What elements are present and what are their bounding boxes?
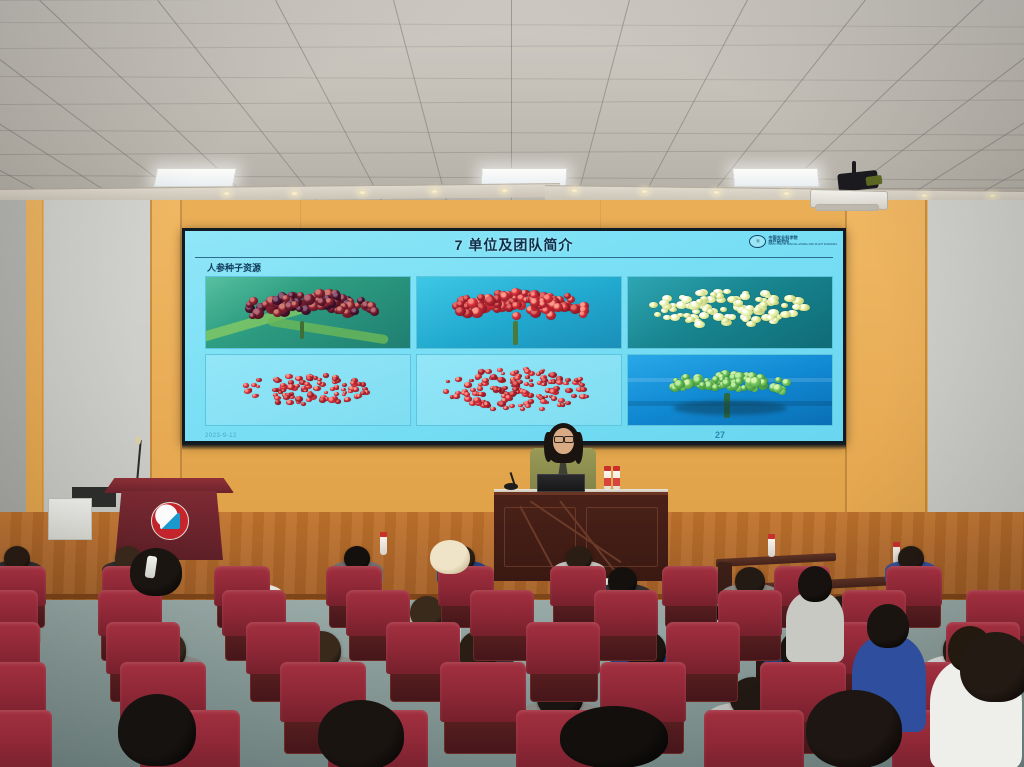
- berry: [707, 309, 715, 314]
- audience-person-head-foreground: [560, 706, 668, 767]
- berry: [784, 295, 796, 303]
- berry: [735, 378, 743, 385]
- berry: [654, 312, 661, 317]
- berry: [323, 373, 329, 378]
- berry: [710, 292, 717, 297]
- berry: [768, 309, 779, 316]
- berry: [353, 387, 359, 391]
- berry: [446, 380, 450, 383]
- berry: [477, 386, 483, 391]
- berry: [360, 391, 366, 396]
- berry: [328, 397, 336, 403]
- berry: [285, 374, 293, 380]
- floor-box: [48, 498, 92, 540]
- berry: [565, 378, 571, 382]
- berry: [544, 395, 549, 398]
- water-bottle-label: [613, 478, 620, 486]
- institute-logo-line3: INSTITUTE OF SPECIAL ANIMAL AND PLANT SC…: [768, 244, 837, 247]
- berry: [342, 393, 346, 396]
- berry: [674, 380, 685, 389]
- berry: [319, 397, 326, 402]
- berry: [243, 383, 250, 388]
- berry: [694, 321, 704, 328]
- water-bottle: [380, 536, 387, 555]
- slide-image-panel-2: [416, 276, 622, 349]
- berry: [370, 307, 379, 316]
- berry: [249, 313, 256, 320]
- water-bottle-label: [604, 478, 611, 486]
- berry: [455, 307, 465, 316]
- audience-person-head-foreground: [318, 700, 404, 767]
- berry: [307, 392, 315, 397]
- berry: [313, 386, 321, 392]
- berry: [553, 303, 563, 312]
- berry: [539, 407, 545, 411]
- berry: [455, 377, 462, 382]
- berry: [512, 302, 520, 309]
- auditorium-seat[interactable]: [526, 622, 600, 674]
- berry: [529, 379, 534, 382]
- berry: [659, 300, 668, 306]
- water-bottle-cap: [768, 534, 775, 539]
- wall-panel-grey-far-left: [0, 200, 26, 530]
- audience-person-head-light-hair: [430, 540, 470, 574]
- audience-person-head: [867, 604, 909, 648]
- auditorium-seat[interactable]: [0, 710, 52, 767]
- auditorium-seat[interactable]: [704, 710, 804, 767]
- berry: [551, 380, 556, 384]
- berry: [473, 397, 481, 403]
- berry: [728, 314, 737, 320]
- berry: [781, 303, 788, 308]
- berry: [571, 394, 577, 398]
- berry: [317, 381, 322, 385]
- berry: [344, 397, 351, 402]
- wall-panel-grey-right: [928, 200, 1024, 552]
- table-microphone-base: [504, 483, 518, 490]
- berry: [469, 379, 474, 383]
- water-bottle-cap: [613, 466, 620, 471]
- berry: [281, 389, 286, 393]
- berry: [273, 309, 281, 317]
- berry: [453, 394, 459, 399]
- berry: [514, 370, 519, 374]
- berry: [467, 298, 478, 308]
- audience-person-head-foreground: [118, 694, 196, 766]
- berry: [696, 299, 703, 303]
- berry: [287, 384, 295, 390]
- berry: [580, 387, 588, 392]
- auditorium-seat[interactable]: [440, 662, 526, 722]
- presenter-laptop: [537, 474, 585, 492]
- berry: [256, 378, 262, 383]
- slide-page-number: 27: [715, 430, 725, 440]
- presenter-hair-side-right: [574, 432, 583, 464]
- berry: [500, 292, 510, 301]
- berry: [746, 321, 756, 328]
- berry: [712, 384, 720, 391]
- slide-image-panel-4: [205, 354, 411, 427]
- institute-logo: ⚛ 中国农业科学院 特产研究所 INSTITUTE OF SPECIAL ANI…: [749, 235, 837, 248]
- slide-title-divider: [195, 257, 833, 258]
- institute-seal-icon: ⚛: [749, 235, 766, 248]
- berry: [304, 382, 309, 386]
- slide-image-panel-3: [627, 276, 833, 349]
- berry: [558, 398, 565, 403]
- ceiling-light-panel: [732, 168, 820, 187]
- berry: [556, 380, 563, 385]
- screen-bezel-shadow: [182, 444, 846, 450]
- berry: [520, 407, 526, 411]
- lectern-microphone-stem: [136, 440, 141, 480]
- berry: [505, 395, 511, 400]
- ceiling-light-panel: [153, 168, 237, 187]
- berry: [584, 395, 588, 398]
- berry: [325, 298, 334, 306]
- berry: [670, 314, 680, 321]
- presenter-glasses-right: [564, 436, 574, 443]
- audience-person-head: [798, 566, 832, 602]
- berry: [551, 396, 557, 401]
- berry: [324, 391, 329, 394]
- slide-title: 7 单位及团队简介: [185, 233, 843, 257]
- water-bottle-cap: [893, 542, 900, 547]
- berry: [720, 307, 728, 312]
- wall-seam: [925, 200, 927, 550]
- wall-strip: [846, 200, 928, 548]
- projector-base: [815, 204, 879, 211]
- slide-image-panel-5: [416, 354, 622, 427]
- berry: [336, 306, 344, 314]
- berry: [663, 315, 671, 320]
- berry: [565, 401, 571, 405]
- berry: [549, 389, 556, 394]
- presenter-hair-side-left: [544, 432, 553, 462]
- slide-subtitle: 人参种子资源: [207, 261, 261, 274]
- berry: [686, 317, 694, 323]
- berry: [780, 311, 791, 318]
- berry: [471, 307, 483, 317]
- berry: [529, 383, 534, 387]
- berry: [683, 379, 693, 388]
- lectern-microphone-head: [135, 436, 141, 445]
- lectern-top: [104, 478, 234, 493]
- berry: [782, 379, 790, 386]
- berry: [249, 297, 258, 305]
- berry: [303, 294, 315, 305]
- berry: [464, 382, 472, 388]
- berry: [342, 383, 347, 387]
- berry: [509, 404, 515, 409]
- berry: [306, 398, 312, 402]
- berry: [475, 374, 482, 379]
- berry: [549, 372, 557, 378]
- berry: [525, 404, 530, 408]
- berry: [501, 372, 506, 375]
- berry: [775, 377, 782, 383]
- berry: [252, 394, 258, 399]
- projection-screen: 7 单位及团队简介 ⚛ 中国农业科学院 特产研究所 INSTITUTE OF S…: [182, 228, 846, 444]
- ceiling-downlight: [358, 190, 367, 195]
- slide-image-panel-1: [205, 276, 411, 349]
- audience-person-head-with-clip: [130, 548, 182, 596]
- berry: [723, 289, 731, 294]
- slide-content: 7 单位及团队简介 ⚛ 中国农业科学院 特产研究所 INSTITUTE OF S…: [185, 231, 843, 441]
- berry: [528, 399, 535, 404]
- lectern: [104, 440, 234, 560]
- auditorium-photo: 7 单位及团队简介 ⚛ 中国农业科学院 特产研究所 INSTITUTE OF S…: [0, 0, 1024, 767]
- berry: [351, 308, 359, 316]
- berry: [741, 385, 748, 391]
- berry: [348, 390, 353, 393]
- berry: [577, 377, 583, 381]
- audience-person-torso: [786, 592, 844, 662]
- berry: [314, 289, 324, 298]
- berry: [443, 389, 449, 393]
- berry: [275, 400, 280, 404]
- ceiling-downlight: [712, 190, 721, 195]
- berry: [579, 311, 587, 318]
- berry: [699, 382, 706, 388]
- berry: [769, 299, 778, 305]
- berry: [497, 377, 505, 383]
- berry: [490, 407, 495, 411]
- water-bottle-cap: [604, 466, 611, 471]
- berry: [564, 293, 571, 299]
- auditorium-seat[interactable]: [594, 590, 658, 636]
- audience-person-head-foreground: [806, 690, 902, 767]
- berry: [740, 293, 750, 299]
- berry: [517, 380, 523, 384]
- berry: [561, 403, 566, 406]
- berry: [301, 402, 306, 406]
- berry: [330, 387, 335, 391]
- auditorium-seat[interactable]: [662, 566, 718, 606]
- ceiling-downlight: [290, 191, 299, 196]
- berry: [649, 302, 658, 308]
- ceiling-downlight: [920, 193, 929, 198]
- berry: [484, 402, 490, 406]
- berry: [563, 382, 569, 386]
- berry: [518, 404, 523, 408]
- berry: [753, 307, 762, 313]
- berry: [291, 301, 299, 308]
- ceiling-downlight: [782, 191, 791, 196]
- water-bottle: [768, 538, 775, 557]
- berry: [497, 368, 503, 372]
- berry: [317, 298, 325, 306]
- berry: [541, 383, 546, 387]
- auditorium-seat[interactable]: [470, 590, 534, 636]
- berry: [295, 396, 303, 402]
- slide-image-grid: [205, 276, 833, 426]
- berry: [565, 388, 573, 394]
- wall-seam: [42, 200, 43, 536]
- water-bottle-cap: [380, 532, 387, 537]
- berry: [485, 296, 496, 306]
- berry: [792, 304, 801, 310]
- slide-date: 2023-9-12: [205, 433, 237, 439]
- berry: [286, 400, 293, 405]
- berry: [750, 377, 760, 386]
- berry: [498, 401, 506, 407]
- slide-image-panel-6: [627, 354, 833, 427]
- berry: [283, 395, 290, 400]
- berry: [244, 389, 251, 394]
- lectern-emblem: [151, 502, 189, 540]
- audience-person-head-foreground: [960, 632, 1024, 702]
- berry: [695, 290, 704, 296]
- berry: [512, 312, 521, 320]
- institute-logo-text: 中国农业科学院 特产研究所 INSTITUTE OF SPECIAL ANIMA…: [768, 236, 837, 247]
- berry: [745, 305, 754, 311]
- presenter-glasses-left: [554, 436, 564, 443]
